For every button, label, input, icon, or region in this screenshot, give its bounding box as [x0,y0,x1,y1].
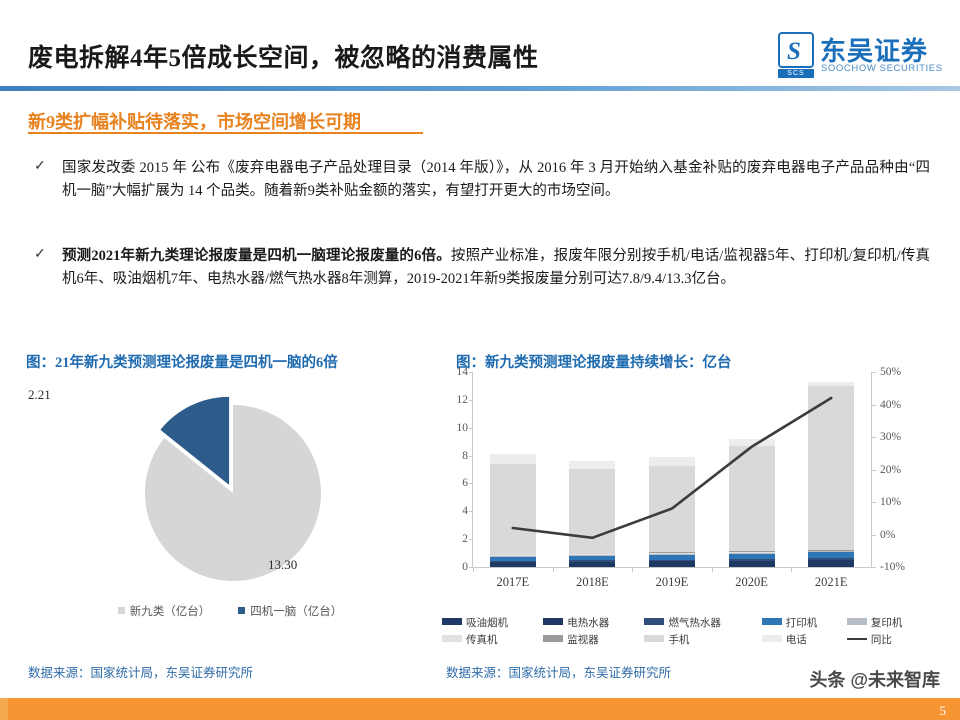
y-axis-left-tick-label: 12 [457,394,469,406]
y-axis-right-tick-mark [871,405,876,406]
bar-plot-area: 02468101214 -10%0%10%20%30%40%50% 2017E2… [472,372,871,568]
legend-swatch-icon [644,635,664,642]
bar-legend-item: 同比 [847,631,932,648]
logo-swirl-icon: S [787,38,801,66]
check-icon: ✓ [34,158,46,175]
legend-swatch-icon [543,618,563,625]
footer-bar: 5 [8,698,960,720]
y-axis-left-tick-label: 4 [462,505,468,517]
bar-chart: 02468101214 -10%0%10%20%30%40%50% 2017E2… [432,368,932,658]
pie-legend-item: 新九类（亿台） [118,603,211,619]
bar-legend-item: 传真机 [442,631,543,648]
pie-legend-label: 新九类（亿台） [130,606,211,618]
legend-swatch-icon [644,618,664,625]
y-axis-right-tick-mark [871,372,876,373]
x-axis-tick-label: 2019E [632,575,712,590]
x-axis-tick-label: 2020E [712,575,792,590]
x-axis-tick-mark [553,567,554,572]
pie-legend-label: 四机一脑（亿台） [250,606,342,618]
y-axis-left-tick-label: 10 [457,422,469,434]
pie-chart: 2.21 13.30 新九类（亿台）四机一脑（亿台） [20,375,440,645]
bar-legend-row: 传真机监视器手机电话同比 [442,631,932,648]
x-axis-tick-mark [791,567,792,572]
footer-edge-accent [0,698,8,720]
bar-legend-label: 传真机 [466,635,498,646]
bar-legend-label: 电热水器 [567,618,609,629]
y-axis-right-tick-label: 10% [880,496,901,508]
x-axis-tick-mark [712,567,713,572]
pie-value-label-gray: 13.30 [268,557,297,573]
watermark: 头条 @未来智库 [809,666,940,692]
trend-line-svg [473,372,871,567]
y-axis-right-tick-label: 20% [880,464,901,476]
legend-swatch-icon [762,635,782,642]
x-axis-tick-mark [473,567,474,572]
y-axis-right-tick-label: 50% [880,366,901,378]
bar-legend-label: 同比 [871,635,892,646]
y-axis-right-tick-mark [871,437,876,438]
y-axis-right-tick-label: 30% [880,431,901,443]
y-axis-right-tick-mark [871,470,876,471]
header-divider [0,86,960,91]
bar-legend-item: 打印机 [762,614,847,631]
x-axis-tick-label: 2017E [473,575,553,590]
bar-legend-item: 复印机 [847,614,932,631]
logo-scs-badge: SCS [778,69,814,78]
legend-swatch-icon [543,635,563,642]
legend-swatch-icon [118,607,125,614]
bullet-item-1: ✓ 国家发改委 2015 年 公布《废弃电器电子产品处理目录（2014 年版）》… [34,157,930,203]
y-axis-left-tick-label: 14 [457,366,469,378]
bar-legend-item: 手机 [644,631,761,648]
y-axis-left-tick-label: 6 [462,477,468,489]
legend-line-icon [847,638,867,641]
logo-mark-icon: S [778,32,814,68]
figure-title-pie: 图：21年新九类预测理论报废量是四机一脑的6倍 [26,351,338,372]
bullet-lead-2: 预测2021年新九类理论报废量是四机一脑理论报废量的6倍。 [62,248,451,264]
pie-canvas [138,393,328,583]
check-icon: ✓ [34,246,46,263]
source-note-right: 数据来源：国家统计局，东吴证券研究所 [446,662,671,681]
pie-svg [138,393,328,588]
bar-legend-label: 吸油烟机 [466,618,508,629]
y-axis-right-tick-mark [871,502,876,503]
logo-name-en: SOOCHOW SECURITIES [821,63,943,74]
bar-legend-label: 打印机 [786,618,818,629]
page-number: 5 [940,703,947,719]
bar-legend: 吸油烟机电热水器燃气热水器打印机复印机传真机监视器手机电话同比 [442,614,932,648]
y-axis-right-tick-mark [871,535,876,536]
bar-legend-label: 监视器 [567,635,599,646]
bar-legend-label: 复印机 [871,618,903,629]
y-axis-right-tick-label: -10% [880,561,905,573]
bar-legend-row: 吸油烟机电热水器燃气热水器打印机复印机 [442,614,932,631]
y-axis-left-tick-label: 2 [462,533,468,545]
bar-legend-label: 电话 [786,635,807,646]
y-axis-right-tick-label: 0% [880,529,895,541]
legend-swatch-icon [762,618,782,625]
brand-logo: S SCS 东吴证券 SOOCHOW SECURITIES [778,32,938,78]
y-axis-left-tick-label: 8 [462,450,468,462]
y-axis-left-tick-label: 0 [462,561,468,573]
bar-legend-item: 电热水器 [543,614,644,631]
bar-legend-item: 燃气热水器 [644,614,761,631]
bullet-item-2: ✓ 预测2021年新九类理论报废量是四机一脑理论报废量的6倍。按照产业标准，报废… [34,245,930,291]
page-title: 废电拆解4年5倍成长空间，被忽略的消费属性 [28,38,539,74]
section-heading-underline [28,132,423,134]
bullet-text-1: 国家发改委 2015 年 公布《废弃电器电子产品处理目录（2014 年版）》，从… [62,157,930,203]
slide-header: 废电拆解4年5倍成长空间，被忽略的消费属性 S SCS 东吴证券 SOOCHOW… [0,0,960,90]
legend-swatch-icon [238,607,245,614]
bar-legend-item: 电话 [762,631,847,648]
legend-swatch-icon [847,618,867,625]
pie-legend: 新九类（亿台）四机一脑（亿台） [20,603,440,619]
bar-legend-item: 吸油烟机 [442,614,543,631]
x-axis-tick-mark [632,567,633,572]
bar-legend-item: 监视器 [543,631,644,648]
bar-legend-label: 燃气热水器 [668,618,721,629]
pie-value-label-blue: 2.21 [28,387,51,403]
legend-swatch-icon [442,618,462,625]
y-axis-right-tick-mark [871,567,876,568]
legend-swatch-icon [442,635,462,642]
section-heading: 新9类扩幅补贴待落实，市场空间增长可期 [28,108,361,134]
x-axis-tick-label: 2018E [552,575,632,590]
source-note-left: 数据来源：国家统计局，东吴证券研究所 [28,662,253,681]
x-axis-tick-label: 2021E [791,575,871,590]
y-axis-right-tick-label: 40% [880,399,901,411]
pie-legend-item: 四机一脑（亿台） [238,603,342,619]
trend-line-path [513,398,831,538]
bullet-text-2: 预测2021年新九类理论报废量是四机一脑理论报废量的6倍。按照产业标准，报废年限… [62,245,930,291]
bar-legend-label: 手机 [668,635,689,646]
